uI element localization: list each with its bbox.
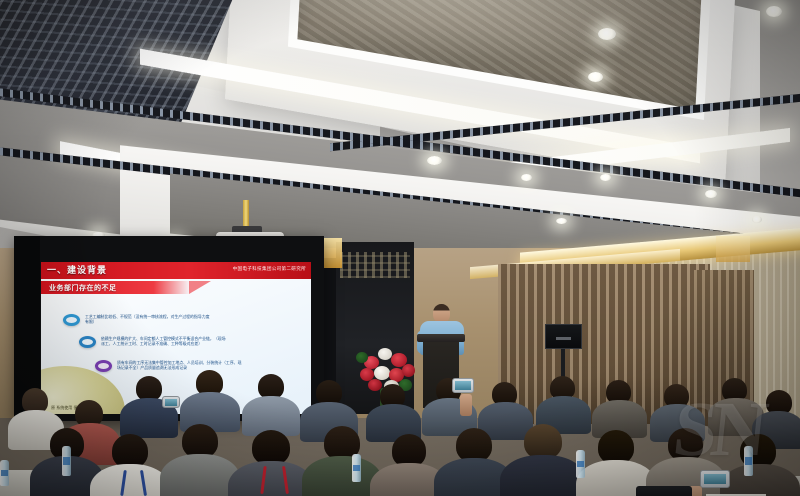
audience-shoulders <box>720 464 800 496</box>
water-bottle <box>576 450 585 478</box>
slide-organization: 中国电子科技集团公司第二研究所 <box>233 266 306 272</box>
smartphone-screen <box>165 399 177 406</box>
flower-icon <box>402 364 415 377</box>
flower-icon <box>368 379 382 391</box>
projector-mount-pole <box>243 200 249 228</box>
slide-bullet: 依赖生产规模的扩大、车间定额人工管控模式不平衡适合产业链，（现场派工、人工统计工… <box>79 336 229 348</box>
slide-bullet-text: 质有车间的工序无法集中管控加工地点、人员培训、分装统计（工序、现场记录不全）产品… <box>117 360 245 370</box>
laptop <box>636 486 692 496</box>
audience-head <box>598 430 634 464</box>
slide-subtitle: 业务部门存在的不足 <box>49 283 117 293</box>
ring-icon-blue <box>79 336 96 348</box>
wall-light-right <box>716 236 750 262</box>
slide-bullet: 质有车间的工序无法集中管控加工地点、人员培训、分装统计（工序、现场记录不全）产品… <box>95 360 245 372</box>
smartphone-screen <box>455 381 471 390</box>
flower-icon <box>378 348 392 360</box>
slide-bullet-text: 依赖生产规模的扩大、车间定额人工管控模式不平衡适合产业链，（现场派工、人工统计工… <box>101 336 229 346</box>
slide-bullet: 工艺工编制比较低、不规范（没有统一审核流程，对生产过程的指导力度有限） <box>63 314 213 326</box>
water-bottle <box>0 460 9 486</box>
ring-icon-blue <box>63 314 80 326</box>
smartphone-screen <box>704 474 726 484</box>
downlight-icon <box>556 218 567 224</box>
slide-title: 一、建设背景 <box>47 263 107 276</box>
ceiling <box>0 0 800 262</box>
water-bottle <box>62 446 71 476</box>
podium-top <box>417 334 465 342</box>
downlight-icon <box>705 190 717 198</box>
water-bottle <box>744 446 753 476</box>
leaf-icon <box>356 352 368 363</box>
hand-holding-phone <box>460 394 472 416</box>
downlight-icon <box>521 174 532 181</box>
downlight-icon <box>598 28 616 40</box>
audience-head <box>456 428 492 462</box>
audience-head <box>524 424 562 459</box>
audience-head <box>252 430 290 465</box>
conference-photo-scene: 一、建设背景 中国电子科技集团公司第二研究所 业务部门存在的不足 工艺工编制比较… <box>0 0 800 496</box>
water-bottle <box>352 454 361 482</box>
audience-shoulders <box>500 455 586 496</box>
ring-icon-purple <box>95 360 112 372</box>
audience-head <box>182 424 218 458</box>
downlight-icon <box>588 72 603 82</box>
slide-bullet-text: 工艺工编制比较低、不规范（没有统一审核流程，对生产过程的指导力度有限） <box>85 314 213 324</box>
monitor-logo <box>556 337 571 340</box>
downlight-icon <box>427 156 442 165</box>
audience-head <box>112 434 148 468</box>
downlight-icon <box>752 216 762 223</box>
slide-subtitle-bar-tail <box>189 281 211 294</box>
downlight-icon <box>766 6 782 17</box>
room-lower: 一、建设背景 中国电子科技集团公司第二研究所 业务部门存在的不足 工艺工编制比较… <box>0 248 800 496</box>
flower-icon <box>374 366 390 380</box>
audience-shoulders <box>90 464 170 496</box>
downlight-icon <box>600 174 611 181</box>
